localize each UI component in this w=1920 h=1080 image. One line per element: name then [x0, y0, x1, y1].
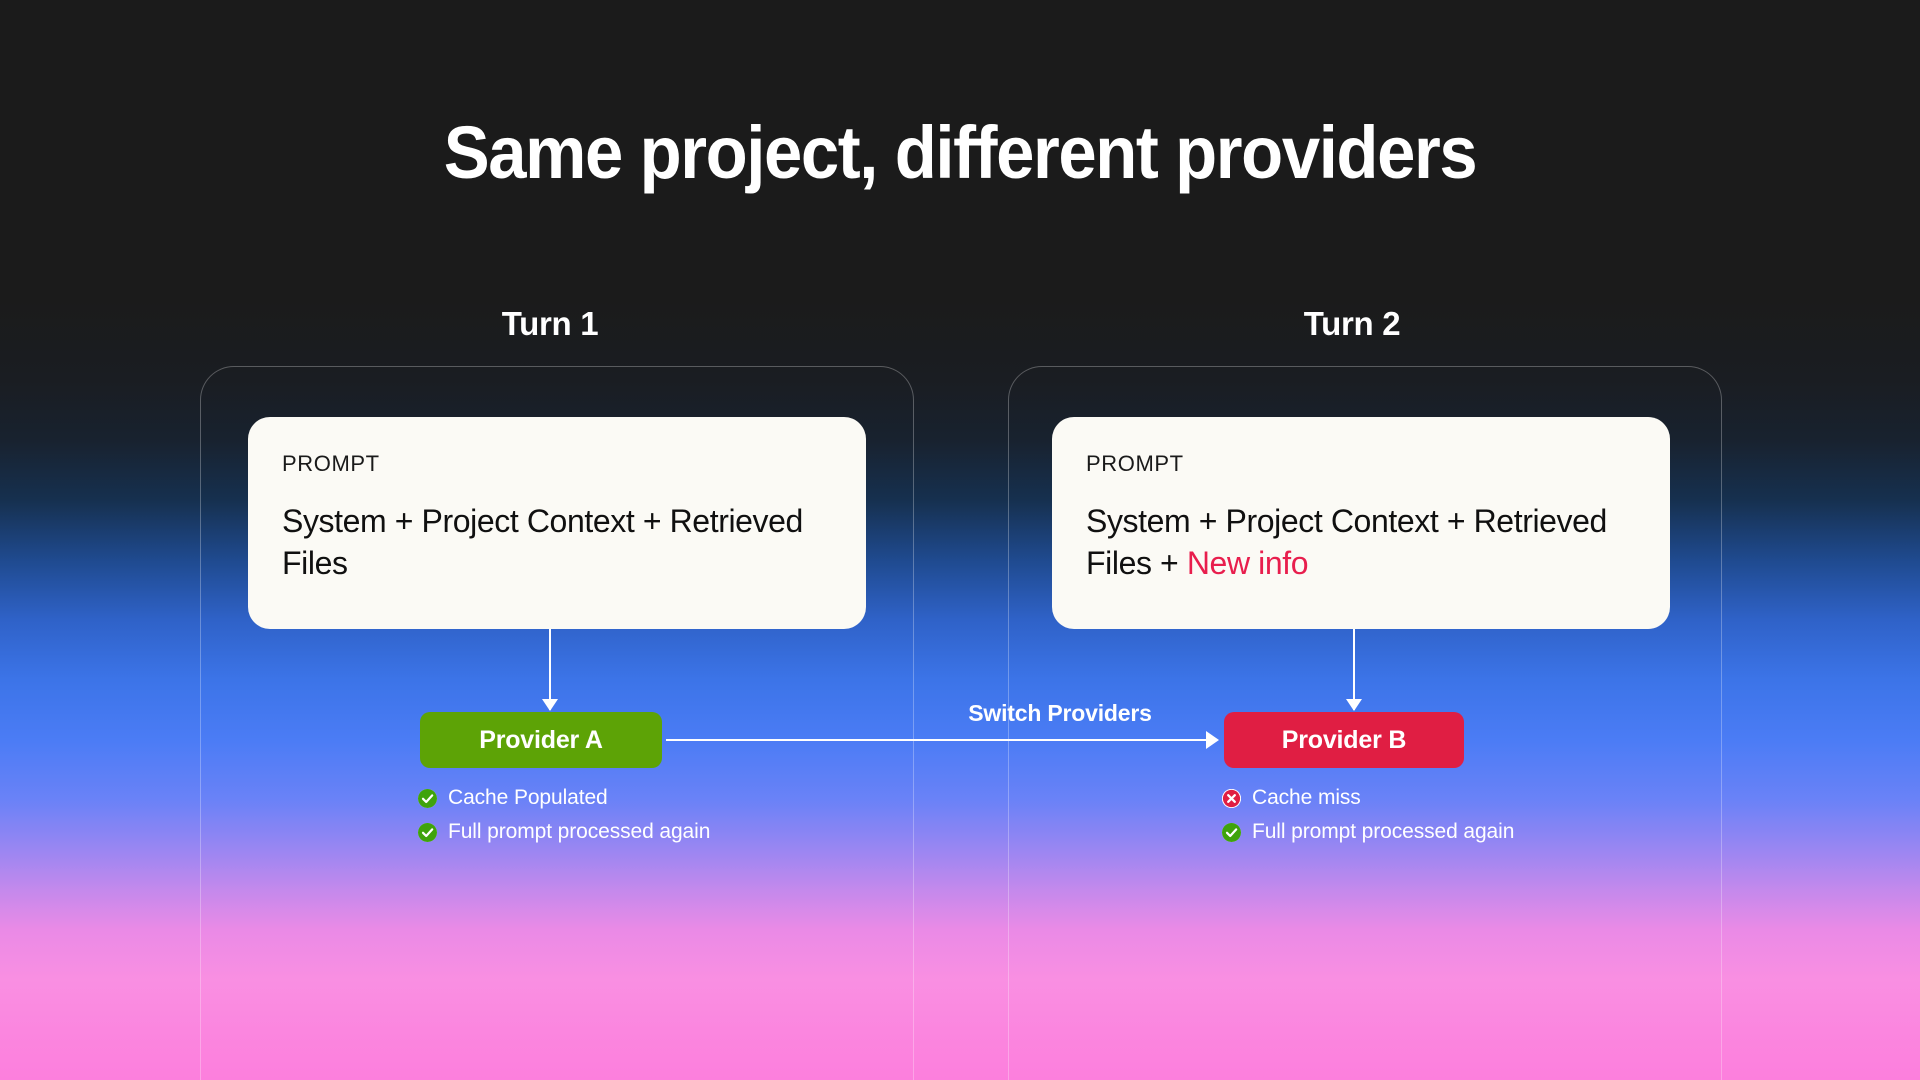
provider-a-label: Provider A [479, 726, 603, 755]
prompt-kicker: PROMPT [282, 451, 832, 477]
status-text: Full prompt processed again [448, 820, 710, 844]
status-text: Cache miss [1252, 786, 1361, 810]
x-circle-icon [1222, 789, 1241, 808]
arrow-down-head-icon [542, 699, 558, 711]
turn-2-prompt-card: PROMPT System + Project Context + Retrie… [1052, 417, 1670, 629]
status-row: Full prompt processed again [1222, 820, 1514, 844]
status-text: Full prompt processed again [1252, 820, 1514, 844]
page-title: Same project, different providers [67, 110, 1853, 195]
arrow-down-head-icon [1346, 699, 1362, 711]
slide-canvas: Same project, different providers Turn 1… [0, 0, 1920, 1080]
provider-b-label: Provider B [1282, 726, 1406, 755]
turn-1-status-list: Cache Populated Full prompt processed ag… [418, 786, 710, 854]
turn-2-heading: Turn 2 [1182, 305, 1522, 343]
provider-b-badge[interactable]: Provider B [1224, 712, 1464, 768]
provider-a-badge[interactable]: Provider A [420, 712, 662, 768]
prompt-body-accent: New info [1187, 545, 1308, 581]
status-row: Full prompt processed again [418, 820, 710, 844]
prompt-kicker: PROMPT [1086, 451, 1636, 477]
status-row: Cache Populated [418, 786, 710, 810]
arrow-down-icon [1353, 629, 1355, 710]
status-row: Cache miss [1222, 786, 1514, 810]
check-circle-icon [418, 823, 437, 842]
prompt-body-text: System + Project Context + Retrieved Fil… [1086, 503, 1607, 581]
prompt-body-text: System + Project Context + Retrieved Fil… [282, 503, 803, 581]
arrow-down-icon [549, 629, 551, 710]
check-circle-icon [418, 789, 437, 808]
prompt-body: System + Project Context + Retrieved Fil… [1086, 501, 1636, 584]
turn-1-heading: Turn 1 [380, 305, 720, 343]
prompt-body: System + Project Context + Retrieved Fil… [282, 501, 832, 584]
turn-2-status-list: Cache miss Full prompt processed again [1222, 786, 1514, 854]
check-circle-icon [1222, 823, 1241, 842]
status-text: Cache Populated [448, 786, 608, 810]
turn-1-prompt-card: PROMPT System + Project Context + Retrie… [248, 417, 866, 629]
